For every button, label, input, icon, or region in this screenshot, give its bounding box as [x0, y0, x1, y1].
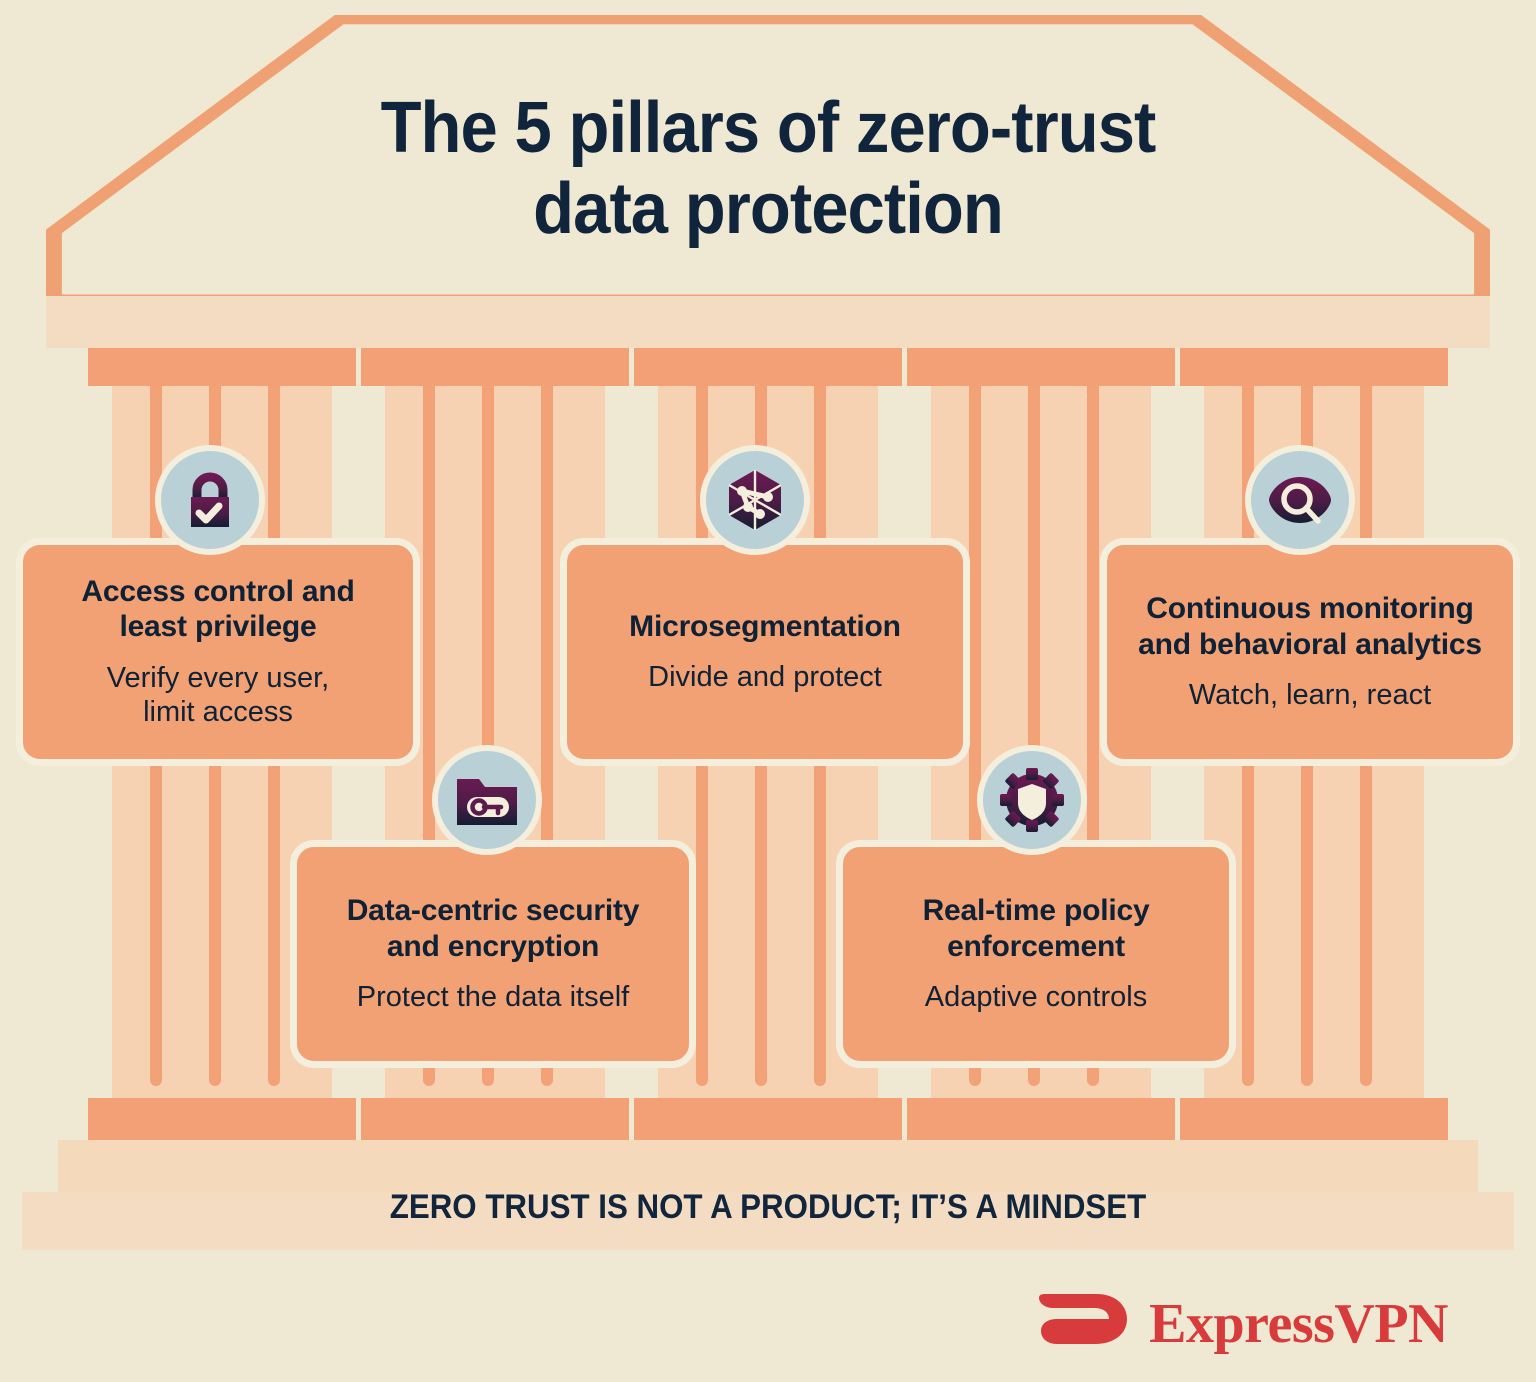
pillar-title: Data-centric security and encryption	[347, 893, 640, 964]
architrave-band	[46, 296, 1490, 348]
column-capital-3	[634, 348, 902, 386]
pillar-title: Access control and least privilege	[81, 574, 354, 645]
column-capital-2	[361, 348, 629, 386]
pillar-card-microsegmentation[interactable]: Microsegmentation Divide and protect	[560, 538, 970, 766]
pillar-card-real-time-policy[interactable]: Real-time policy enforcement Adaptive co…	[836, 840, 1236, 1068]
pillar-title: Continuous monitoring and behavioral ana…	[1138, 591, 1482, 662]
gear-shield-icon	[977, 745, 1087, 855]
tagline-text: ZERO TRUST IS NOT A PRODUCT; IT’S A MIND…	[61, 1188, 1474, 1227]
pillar-subtitle: Watch, learn, react	[1189, 678, 1431, 713]
pillar-card-access-control[interactable]: Access control and least privilege Verif…	[16, 538, 420, 766]
column-plinth-3	[634, 1098, 902, 1140]
eye-magnifier-icon	[1245, 445, 1355, 555]
padlock-check-icon	[155, 445, 265, 555]
column-capital-4	[907, 348, 1175, 386]
pillar-subtitle: Verify every user, limit access	[107, 661, 329, 731]
pillar-card-data-centric-security[interactable]: Data-centric security and encryption Pro…	[290, 840, 696, 1068]
pillar-subtitle: Divide and protect	[648, 660, 882, 695]
page-title: The 5 pillars of zero-trust data protect…	[54, 88, 1482, 249]
pillar-subtitle: Protect the data itself	[357, 980, 629, 1015]
infographic-canvas: The 5 pillars of zero-trust data protect…	[0, 0, 1536, 1382]
expressvpn-e-mark-icon	[1037, 1288, 1133, 1360]
expressvpn-wordmark: ExpressVPN	[1149, 1296, 1448, 1352]
pillar-title: Microsegmentation	[629, 609, 901, 644]
pillar-title: Real-time policy enforcement	[923, 893, 1150, 964]
pillar-card-continuous-monitoring[interactable]: Continuous monitoring and behavioral ana…	[1100, 538, 1520, 766]
temple-base-upper	[58, 1140, 1478, 1192]
folder-key-icon	[432, 745, 542, 855]
pillar-subtitle: Adaptive controls	[925, 980, 1147, 1015]
column-capital-5	[1180, 348, 1448, 386]
column-capital-1	[88, 348, 356, 386]
column-plinth-2	[361, 1098, 629, 1140]
expressvpn-logo[interactable]: ExpressVPN	[1037, 1288, 1448, 1360]
column-plinth-4	[907, 1098, 1175, 1140]
column-plinth-5	[1180, 1098, 1448, 1140]
hexagon-network-icon	[700, 445, 810, 555]
column-plinth-1	[88, 1098, 356, 1140]
